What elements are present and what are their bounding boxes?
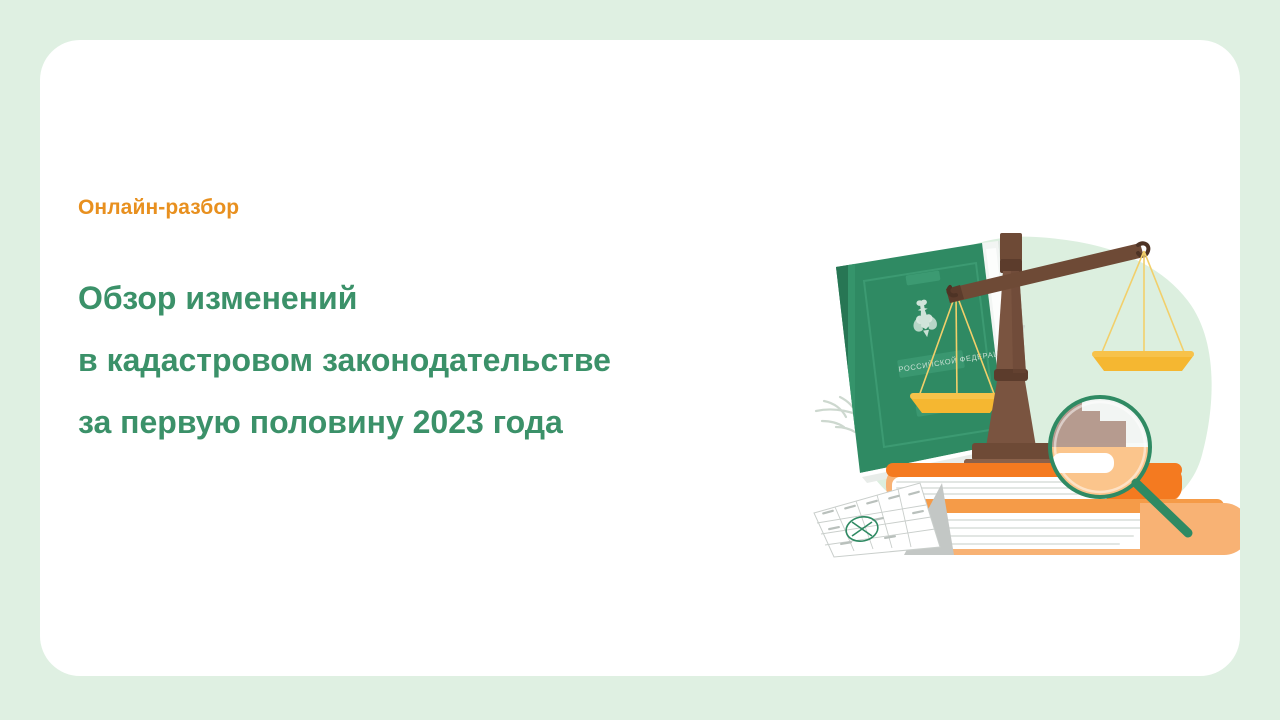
text-block: Онлайн-разбор Обзор изменений в кадастро… xyxy=(78,195,838,438)
legal-scales-books-illustration: РОССИЙСКОЙ ФЕДЕРАЦИИ xyxy=(800,215,1240,575)
page-title: Обзор изменений в кадастровом законодате… xyxy=(78,282,838,438)
peach-book xyxy=(910,499,1240,555)
calendar-sheet xyxy=(814,483,940,557)
content-card: Онлайн-разбор Обзор изменений в кадастро… xyxy=(40,40,1240,676)
slide-root: Онлайн-разбор Обзор изменений в кадастро… xyxy=(0,0,1280,720)
headline-line-1: Обзор изменений xyxy=(78,282,838,314)
headline-line-3: за первую половину 2023 года xyxy=(78,406,838,438)
eyebrow-label: Онлайн-разбор xyxy=(78,195,838,220)
headline-line-2: в кадастровом законодательстве xyxy=(78,344,838,376)
